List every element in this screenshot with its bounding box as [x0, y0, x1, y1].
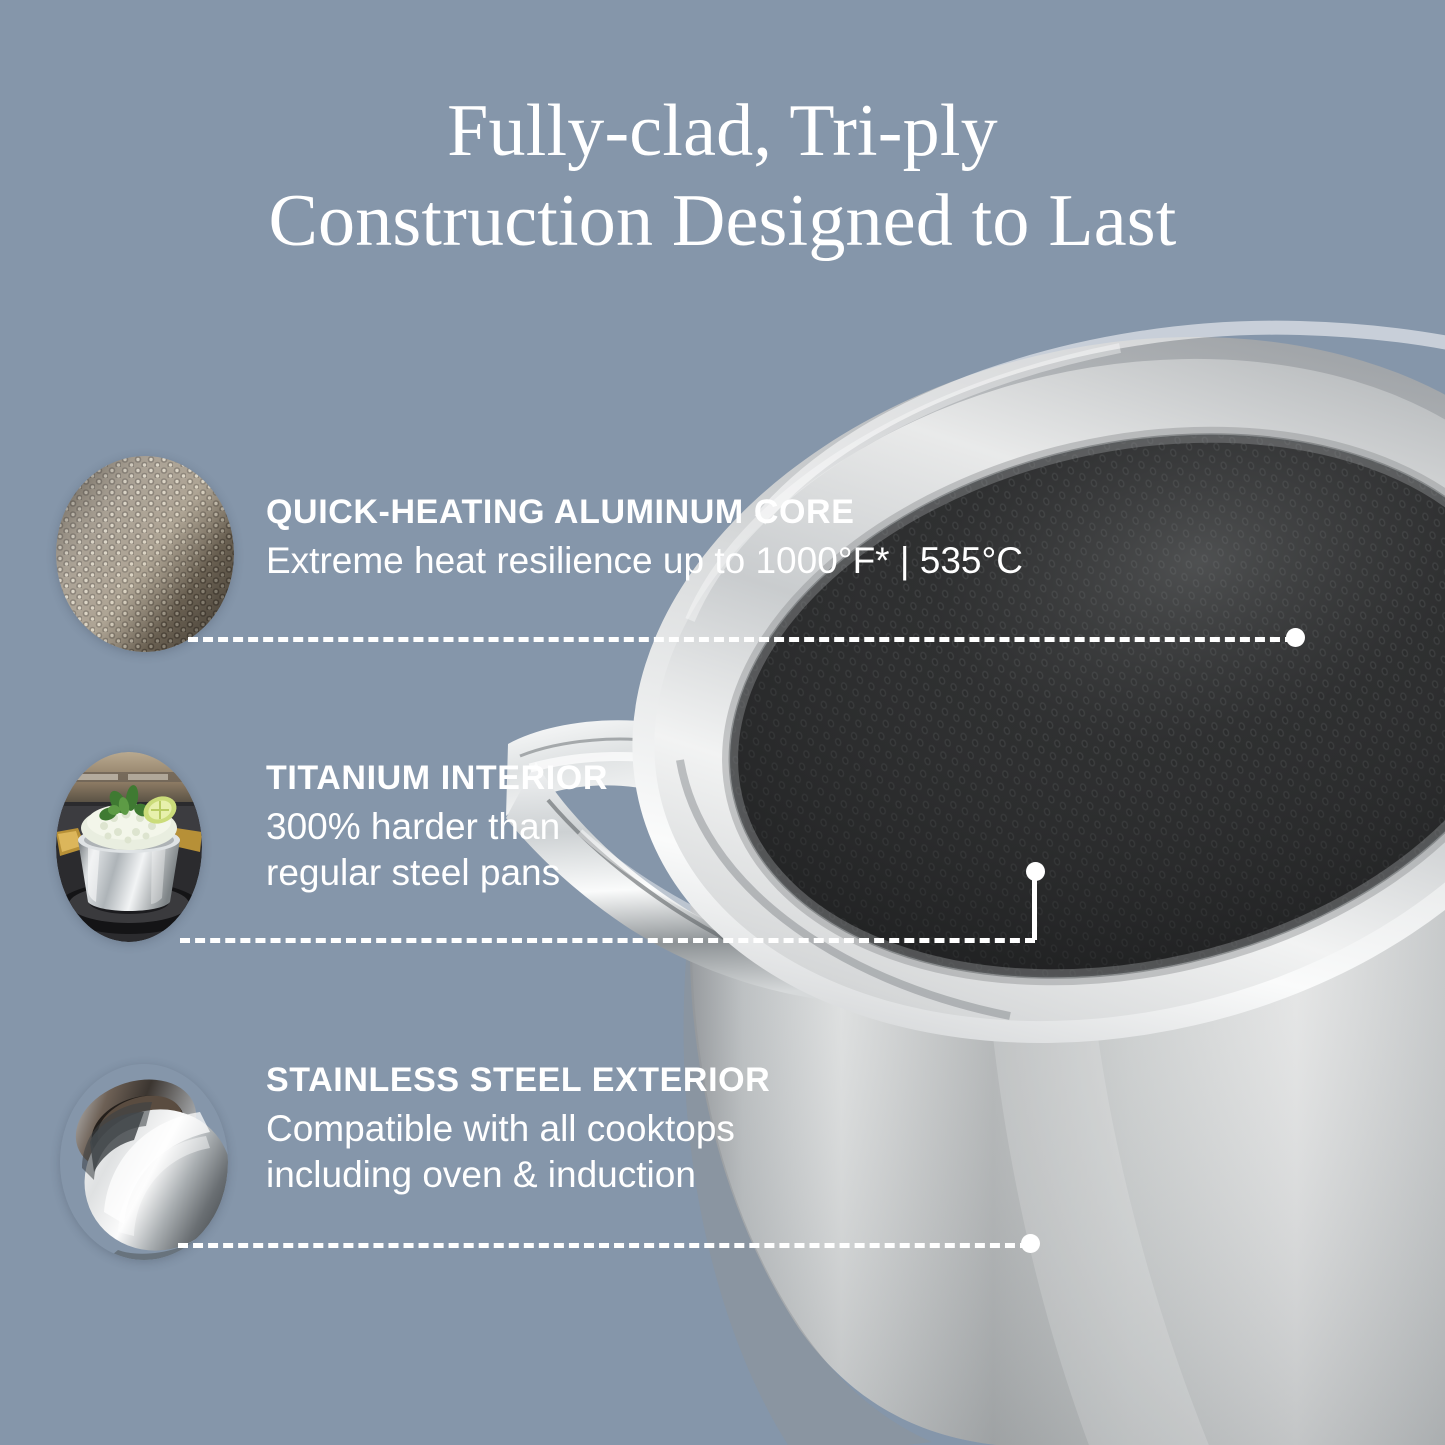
feature-2-body: 300% harder than regular steel pans [266, 804, 608, 894]
feature-2-leader-dot [1026, 862, 1045, 881]
product-photo-stockpot [0, 0, 1445, 1445]
feature-3-body: Compatible with all cooktops including o… [266, 1106, 770, 1196]
stockpot-illustration [0, 0, 1445, 1445]
feature-2-body-line-2: regular steel pans [266, 850, 608, 895]
infographic-canvas: Fully-clad, Tri-ply Construction Designe… [0, 0, 1445, 1445]
feature-2-leader-line [180, 938, 1035, 943]
feature-3-body-line-2: including oven & induction [266, 1152, 770, 1197]
feature-3-leader-dot [1021, 1234, 1040, 1253]
feature-1-leader-dot [1286, 628, 1305, 647]
feature-1-body-line-1: Extreme heat resilience up to 1000°F* | … [266, 538, 1023, 583]
feature-1-text: QUICK-HEATING ALUMINUM CORE Extreme heat… [266, 494, 1023, 584]
feature-2-body-line-1: 300% harder than [266, 804, 608, 849]
feature-1-leader-line [188, 637, 1295, 642]
feature-3-leader-line [178, 1243, 1030, 1248]
feature-3-text: STAINLESS STEEL EXTERIOR Compatible with… [266, 1062, 770, 1197]
feature-2-leader-riser [1032, 876, 1037, 940]
feature-2-heading: TITANIUM INTERIOR [266, 760, 608, 797]
pot-with-rice-on-stovetop-thumbnail [56, 752, 202, 942]
feature-3-body-line-1: Compatible with all cooktops [266, 1106, 770, 1151]
feature-1-body: Extreme heat resilience up to 1000°F* | … [266, 538, 1023, 583]
polished-steel-pot-exterior-thumbnail [60, 1064, 228, 1260]
honeycomb-aluminum-core-thumbnail [56, 456, 234, 652]
feature-2-text: TITANIUM INTERIOR 300% harder than regul… [266, 760, 608, 895]
feature-1-heading: QUICK-HEATING ALUMINUM CORE [266, 494, 1023, 531]
feature-3-heading: STAINLESS STEEL EXTERIOR [266, 1062, 770, 1099]
